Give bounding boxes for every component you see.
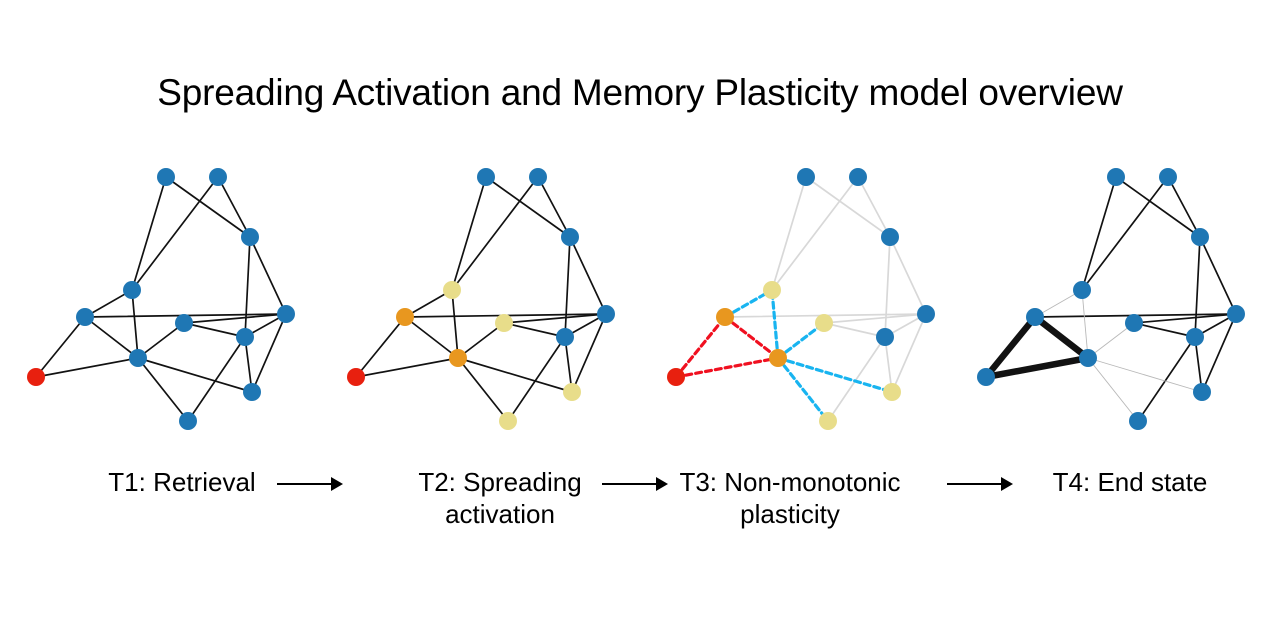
- graph-node-red[interactable]: [347, 368, 365, 386]
- graph-edge: [1082, 177, 1168, 290]
- graph-edge: [508, 337, 565, 421]
- graph-node-blue[interactable]: [175, 314, 193, 332]
- graph-node-blue[interactable]: [917, 305, 935, 323]
- graph-edge: [778, 358, 828, 421]
- graph-node-blue[interactable]: [209, 168, 227, 186]
- caption-t3: T3: Non-monotonicplasticity: [660, 466, 920, 530]
- graph-edge: [892, 314, 926, 392]
- graph-node-red[interactable]: [667, 368, 685, 386]
- graph-node-blue[interactable]: [277, 305, 295, 323]
- graph-edge: [1082, 177, 1116, 290]
- arrow-t1-t2: [275, 472, 345, 496]
- graph-edge: [858, 177, 890, 237]
- graph-node-blue[interactable]: [1191, 228, 1209, 246]
- graph-edge: [772, 290, 778, 358]
- graph-edge: [85, 317, 138, 358]
- graph-edge: [828, 337, 885, 421]
- caption-t3-line1: T3: Non-monotonic: [679, 467, 900, 497]
- graph-node-yellow[interactable]: [495, 314, 513, 332]
- graph-node-blue[interactable]: [1107, 168, 1125, 186]
- graph-node-orange[interactable]: [716, 308, 734, 326]
- graph-edge: [1035, 317, 1088, 358]
- graph-edge: [676, 358, 778, 377]
- graph-edge: [772, 177, 858, 290]
- panel-non-monotonic-plasticity: [650, 150, 970, 460]
- graph-edge: [138, 358, 188, 421]
- graph-edge: [452, 177, 538, 290]
- caption-t4-line1: T4: End state: [1053, 467, 1208, 497]
- graph-node-blue[interactable]: [1073, 281, 1091, 299]
- graph-node-blue[interactable]: [1079, 349, 1097, 367]
- arrow-head: [1001, 477, 1013, 491]
- node-layer: [347, 168, 615, 430]
- graph-edge: [132, 177, 218, 290]
- graph-node-blue[interactable]: [1186, 328, 1204, 346]
- graph-edge: [1200, 237, 1236, 314]
- graph-edge: [218, 177, 250, 237]
- node-layer: [977, 168, 1245, 430]
- panel-end-state: [960, 150, 1280, 460]
- graph-node-blue[interactable]: [1227, 305, 1245, 323]
- graph-node-yellow[interactable]: [763, 281, 781, 299]
- caption-t3-line2: plasticity: [660, 498, 920, 530]
- graph-node-blue[interactable]: [529, 168, 547, 186]
- graph-node-blue[interactable]: [881, 228, 899, 246]
- graph-node-blue[interactable]: [977, 368, 995, 386]
- graph-edge: [1134, 323, 1195, 337]
- graph-node-blue[interactable]: [157, 168, 175, 186]
- panel-retrieval: [10, 150, 330, 460]
- graph-node-yellow[interactable]: [815, 314, 833, 332]
- graph-node-yellow[interactable]: [499, 412, 517, 430]
- node-layer: [27, 168, 295, 430]
- panel-spreading-activation-canvas: [330, 150, 650, 460]
- graph-edge: [538, 177, 570, 237]
- arrow-t2-t3: [600, 472, 670, 496]
- caption-t2-line2: activation: [370, 498, 630, 530]
- graph-edge: [356, 358, 458, 377]
- panel-row: [0, 150, 1280, 460]
- graph-edge: [36, 358, 138, 377]
- caption-t2: T2: Spreadingactivation: [370, 466, 630, 530]
- graph-edge: [184, 323, 245, 337]
- graph-edge: [1202, 314, 1236, 392]
- graph-edge: [1138, 337, 1195, 421]
- graph-edge: [1082, 290, 1088, 358]
- graph-edge: [458, 358, 572, 392]
- graph-edge: [1168, 177, 1200, 237]
- graph-node-orange[interactable]: [769, 349, 787, 367]
- arrow-head: [331, 477, 343, 491]
- graph-node-blue[interactable]: [797, 168, 815, 186]
- caption-t1-line1: T1: Retrieval: [108, 467, 255, 497]
- graph-edge: [132, 177, 166, 290]
- graph-edge: [570, 237, 606, 314]
- graph-edge: [458, 358, 508, 421]
- graph-node-yellow[interactable]: [563, 383, 581, 401]
- graph-node-yellow[interactable]: [883, 383, 901, 401]
- caption-t4: T4: End state: [1000, 466, 1260, 498]
- graph-node-blue[interactable]: [1129, 412, 1147, 430]
- graph-node-blue[interactable]: [876, 328, 894, 346]
- graph-node-blue[interactable]: [236, 328, 254, 346]
- graph-edge: [250, 237, 286, 314]
- graph-node-orange[interactable]: [396, 308, 414, 326]
- graph-edge: [824, 323, 885, 337]
- graph-node-blue[interactable]: [1193, 383, 1211, 401]
- graph-edge: [405, 317, 458, 358]
- graph-node-blue[interactable]: [123, 281, 141, 299]
- graph-node-blue[interactable]: [1159, 168, 1177, 186]
- figure-title: Spreading Activation and Memory Plastici…: [0, 72, 1280, 114]
- panel-non-monotonic-plasticity-canvas: [650, 150, 970, 460]
- graph-edge: [565, 237, 570, 337]
- graph-edge: [725, 317, 778, 358]
- arrow-t3-t4: [945, 472, 1015, 496]
- graph-node-blue[interactable]: [1125, 314, 1143, 332]
- graph-edge: [138, 358, 252, 392]
- graph-edge: [1088, 358, 1138, 421]
- graph-node-yellow[interactable]: [819, 412, 837, 430]
- graph-edge: [1195, 237, 1200, 337]
- graph-node-blue[interactable]: [597, 305, 615, 323]
- arrow-t1-t2-glyph: [275, 472, 345, 496]
- graph-node-orange[interactable]: [449, 349, 467, 367]
- graph-edge: [778, 358, 892, 392]
- arrow-head: [656, 477, 668, 491]
- graph-node-blue[interactable]: [241, 228, 259, 246]
- caption-row: T1: RetrievalT2: SpreadingactivationT3: …: [0, 466, 1280, 576]
- arrow-t3-t4-glyph: [945, 472, 1015, 496]
- graph-edge: [504, 323, 565, 337]
- graph-edge: [252, 314, 286, 392]
- panel-spreading-activation: [330, 150, 650, 460]
- graph-edge: [356, 317, 405, 377]
- figure-root: Spreading Activation and Memory Plastici…: [0, 0, 1280, 640]
- panel-end-state-canvas: [960, 150, 1280, 460]
- graph-edge: [452, 177, 486, 290]
- graph-node-blue[interactable]: [849, 168, 867, 186]
- arrow-t2-t3-glyph: [600, 472, 670, 496]
- graph-edge: [1088, 358, 1202, 392]
- graph-node-blue[interactable]: [76, 308, 94, 326]
- graph-node-blue[interactable]: [1026, 308, 1044, 326]
- graph-edge: [245, 237, 250, 337]
- graph-edge: [452, 290, 458, 358]
- caption-t2-line1: T2: Spreading: [418, 467, 581, 497]
- graph-node-blue[interactable]: [477, 168, 495, 186]
- graph-edge: [890, 237, 926, 314]
- node-layer: [667, 168, 935, 430]
- graph-edge: [132, 290, 138, 358]
- graph-node-red[interactable]: [27, 368, 45, 386]
- graph-node-blue[interactable]: [179, 412, 197, 430]
- graph-edge: [572, 314, 606, 392]
- graph-edge: [36, 317, 85, 377]
- graph-edge: [772, 177, 806, 290]
- graph-node-blue[interactable]: [556, 328, 574, 346]
- graph-node-blue[interactable]: [561, 228, 579, 246]
- graph-edge: [885, 237, 890, 337]
- graph-node-blue[interactable]: [129, 349, 147, 367]
- caption-t1: T1: Retrieval: [52, 466, 312, 498]
- graph-node-blue[interactable]: [243, 383, 261, 401]
- panel-retrieval-canvas: [10, 150, 330, 460]
- graph-edge: [188, 337, 245, 421]
- graph-node-yellow[interactable]: [443, 281, 461, 299]
